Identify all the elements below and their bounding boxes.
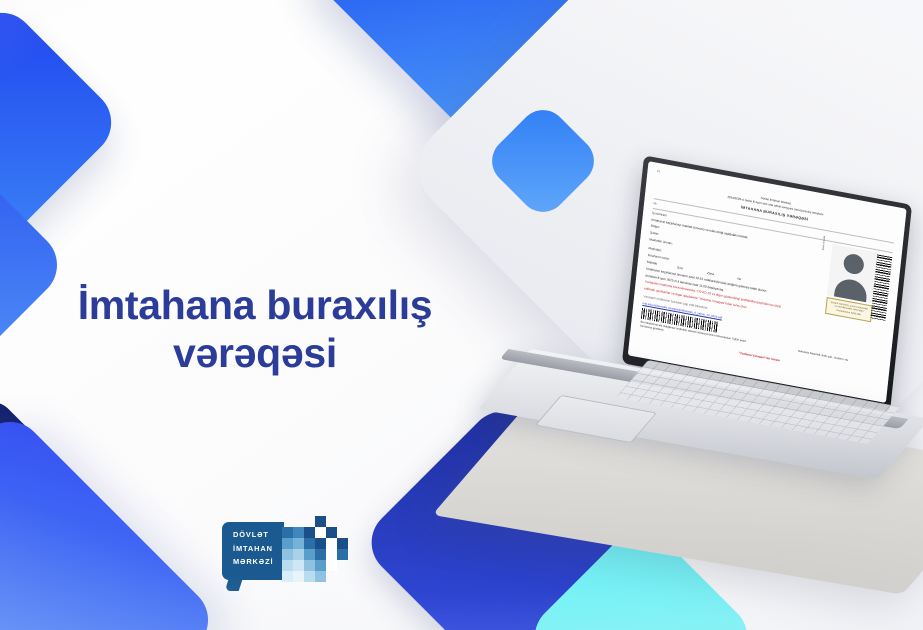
- page-title-line-1: İmtahana buraxılış: [40, 282, 470, 330]
- pixel-mosaic-icon: [282, 516, 344, 586]
- decor-square-top-left: [0, 0, 125, 246]
- avatar: [827, 244, 878, 303]
- logo-pixel: [293, 560, 304, 571]
- laptop-mockup: 1/1 Dövlət İmtahan Mərkəzi 2024/2025-ci …: [498, 150, 923, 570]
- logo-pixel: [282, 538, 293, 549]
- page-title: İmtahana buraxılış vərəqəsi: [40, 282, 470, 377]
- doc-right-column: Şəxsi fotoşəkil Çıxarılı naməlum, şəxsi …: [807, 241, 893, 365]
- logo-pixel: [315, 538, 326, 549]
- logo-pixel: [315, 516, 326, 527]
- logo-pixel: [282, 549, 293, 560]
- logo-pixel: [293, 571, 304, 582]
- dim-logo: DÖVLƏT İMTAHAN MƏRKƏZİ: [222, 516, 344, 586]
- dim-logo-line-3: MƏRKƏZİ: [233, 555, 273, 569]
- logo-pixel: [282, 527, 293, 538]
- page-title-line-2: vərəqəsi: [40, 330, 470, 378]
- logo-pixel: [315, 527, 326, 538]
- laptop-base: [504, 372, 923, 488]
- logo-pixel: [282, 571, 293, 582]
- logo-pixel: [326, 527, 337, 538]
- logo-pixel: [326, 560, 337, 571]
- dim-logo-line-2: İMTAHAN: [233, 542, 273, 556]
- logo-pixel: [315, 560, 326, 571]
- logo-pixel: [293, 527, 304, 538]
- logo-pixel: [304, 560, 315, 571]
- logo-pixel: [326, 549, 337, 560]
- logo-pixel: [304, 527, 315, 538]
- logo-pixel: [337, 549, 348, 560]
- logo-pixel: [315, 549, 326, 560]
- avatar-head-icon: [843, 252, 865, 275]
- logo-pixel: [304, 538, 315, 549]
- dim-logo-line-1: DÖVLƏT: [233, 528, 273, 542]
- logo-pixel: [293, 538, 304, 549]
- logo-pixel: [304, 549, 315, 560]
- logo-pixel: [304, 571, 315, 582]
- logo-pixel: [337, 538, 348, 549]
- decor-square-bottom-left: [0, 408, 222, 630]
- logo-pixel: [315, 571, 326, 582]
- logo-pixel: [326, 538, 337, 549]
- photo-side-label: Şəxsi fotoşəkil: [823, 236, 828, 251]
- poster-canvas: İmtahana buraxılış vərəqəsi DÖVLƏT İMTAH…: [0, 0, 923, 630]
- logo-pixel: [282, 560, 293, 571]
- logo-pixel: [293, 549, 304, 560]
- dim-logo-text: DÖVLƏT İMTAHAN MƏRKƏZİ: [233, 528, 273, 569]
